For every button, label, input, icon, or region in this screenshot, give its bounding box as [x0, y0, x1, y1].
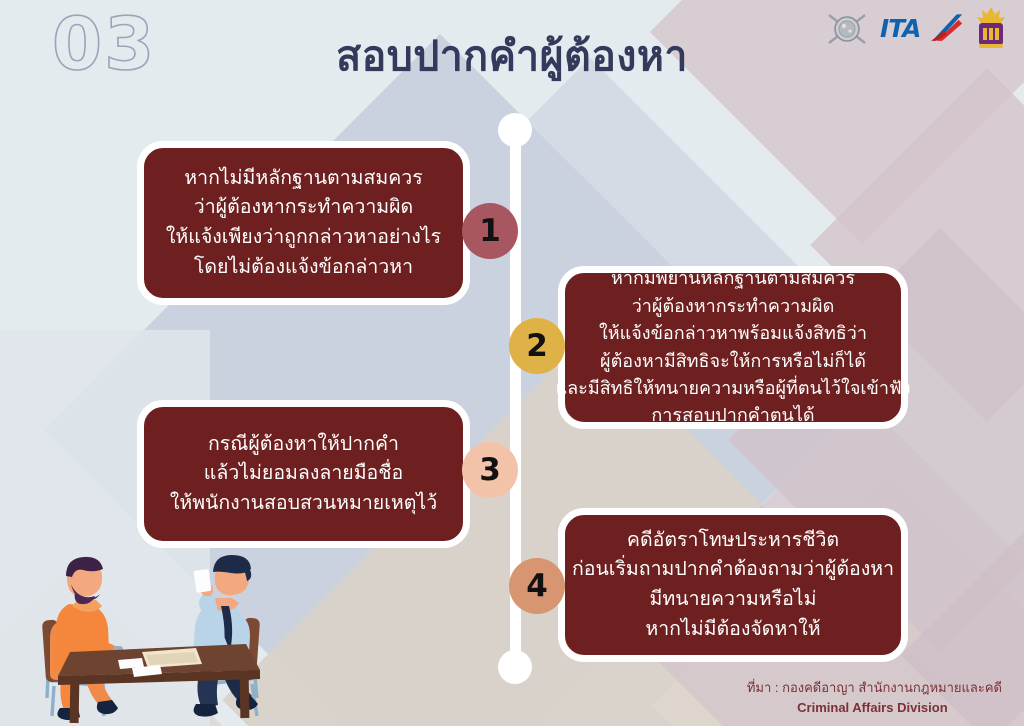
timeline-cap-bottom [498, 650, 532, 684]
source-english: Criminal Affairs Division [747, 698, 1002, 718]
step-4-line: ก่อนเริ่มถามปากคำต้องถามว่าผู้ต้องหา [572, 555, 894, 585]
svg-text:ITA: ITA [880, 14, 920, 43]
step-1-line: ว่าผู้ต้องหากระทำความผิด [166, 193, 441, 223]
step-2-line: และมีสิทธิให้ทนายความหรือผู้ที่ตนไว้ใจเข… [556, 375, 911, 402]
step-2-line: ให้แจ้งข้อกล่าวหาพร้อมแจ้งสิทธิว่า [556, 320, 911, 347]
step-marker-4[interactable]: 4 [509, 558, 565, 614]
step-1-line: หากไม่มีหลักฐานตามสมควร [166, 164, 441, 194]
step-2-line: การสอบปากคำตนได้ [556, 402, 911, 429]
step-3-line: แล้วไม่ยอมลงลายมือชื่อ [170, 459, 437, 489]
timeline-cap-top [498, 113, 532, 147]
step-card-1-text: หากไม่มีหลักฐานตามสมควร ว่าผู้ต้องหากระท… [152, 158, 455, 289]
step-card-4: คดีอัตราโทษประหารชีวิต ก่อนเริ่มถามปากคำ… [558, 508, 908, 662]
step-marker-3[interactable]: 3 [462, 442, 518, 498]
step-card-2-text: หากมีพยานหลักฐานตามสมควร ว่าผู้ต้องหากระ… [542, 259, 925, 435]
step-card-4-text: คดีอัตราโทษประหารชีวิต ก่อนเริ่มถามปากคำ… [558, 520, 908, 651]
source-thai: ที่มา : กองคดีอาญา สำนักงานกฎหมายและคดี [747, 680, 1002, 695]
step-2-line: ว่าผู้ต้องหากระทำความผิด [556, 293, 911, 320]
step-1-line: โดยไม่ต้องแจ้งข้อกล่าวหา [166, 253, 441, 283]
step-4-line: มีทนายความหรือไม่ [572, 585, 894, 615]
step-4-line: คดีอัตราโทษประหารชีวิต [572, 526, 894, 556]
step-marker-2[interactable]: 2 [509, 318, 565, 374]
step-marker-1[interactable]: 1 [462, 203, 518, 259]
step-card-3: กรณีผู้ต้องหาให้ปากคำ แล้วไม่ยอมลงลายมือ… [137, 400, 470, 548]
step-2-line: หากมีพยานหลักฐานตามสมควร [556, 265, 911, 292]
step-card-3-text: กรณีผู้ต้องหาให้ปากคำ แล้วไม่ยอมลงลายมือ… [156, 424, 451, 525]
step-card-2: หากมีพยานหลักฐานตามสมควร ว่าผู้ต้องหากระ… [558, 266, 908, 429]
suspect-figure [50, 557, 134, 720]
source-footer: ที่มา : กองคดีอาญา สำนักงานกฎหมายและคดี … [747, 678, 1002, 718]
ita-logo: ITA [880, 12, 964, 46]
step-2-line: ผู้ต้องหามีสิทธิจะให้การหรือไม่ก็ได้ [556, 348, 911, 375]
step-3-line: กรณีผู้ต้องหาให้ปากคำ [170, 430, 437, 460]
royal-emblem-icon [974, 6, 1008, 52]
logo-group: ITA [824, 6, 1008, 52]
infographic-canvas: 03 สอบปากคำผู้ต้องหา ITA [0, 0, 1024, 726]
step-4-line: หากไม่มีต้องจัดหาให้ [572, 615, 894, 645]
step-3-line: ให้พนักงานสอบสวนหมายเหตุไว้ [170, 489, 437, 519]
step-card-1: หากไม่มีหลักฐานตามสมควร ว่าผู้ต้องหากระท… [137, 141, 470, 305]
police-emblem-icon [824, 6, 870, 52]
step-1-line: ให้แจ้งเพียงว่าถูกกล่าวหาอย่างไร [166, 223, 441, 253]
police-interrogation-illustration [14, 548, 304, 726]
